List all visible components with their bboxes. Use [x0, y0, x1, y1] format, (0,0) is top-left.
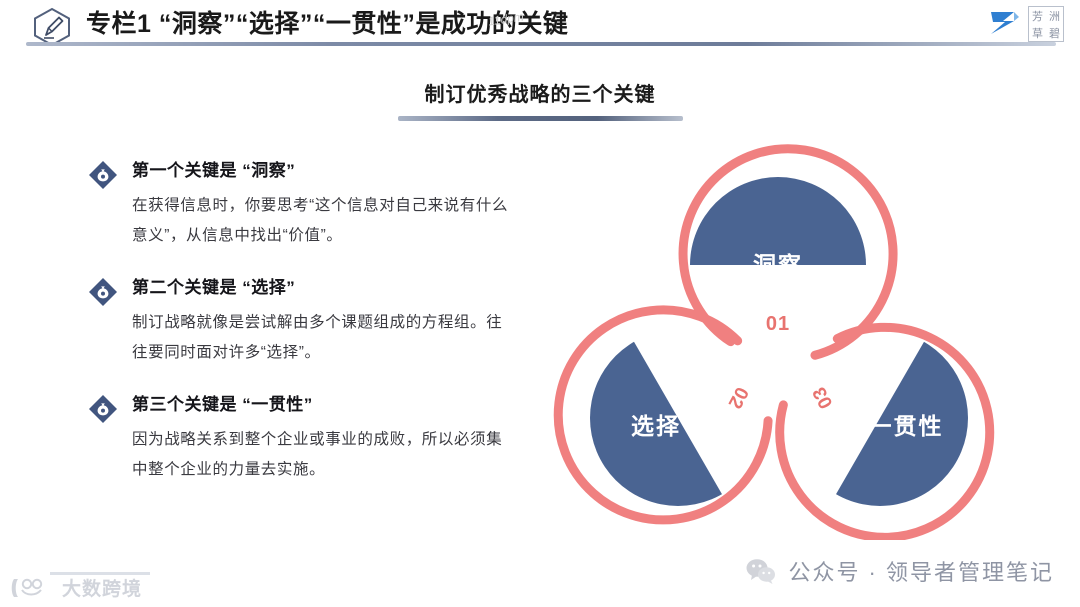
three-keys-ring-diagram: 洞察 01 选择 02 一贯性 03	[528, 140, 1048, 540]
money-bag-diamond-icon	[88, 277, 118, 307]
list-item-heading: 第二个关键是 “选择”	[132, 275, 518, 301]
wechat-account-label: 公众号 · 领导者管理笔记	[788, 555, 1054, 587]
wechat-footer: 公众号 · 领导者管理笔记	[746, 555, 1054, 587]
list-item-heading: 第一个关键是 “洞察”	[132, 158, 518, 184]
list-item: 第一个关键是 “洞察” 在获得信息时，你要思考“这个信息对自己来说有什么意义”，…	[88, 158, 518, 251]
seal-char-2: 洲	[1046, 7, 1063, 24]
page-title: 专栏1 “洞察”“选择”“一贯性”是成功的关键	[86, 4, 568, 44]
money-bag-diamond-icon	[88, 160, 118, 190]
segment-number-02: 02	[724, 383, 752, 412]
list-item-body: 在获得信息时，你要思考“这个信息对自己来说有什么意义”，从信息中找出“价值”。	[132, 191, 518, 251]
dsk-logo-mark-icon	[10, 576, 56, 600]
list-item: 第三个关键是 “一贯性” 因为战略关系到整个企业或事业的成败，所以必须集中整个企…	[88, 392, 518, 485]
header-divider	[26, 42, 1056, 46]
subtitle-underline	[398, 116, 683, 121]
seal-char-4: 碧	[1046, 24, 1063, 41]
money-bag-diamond-icon	[88, 394, 118, 424]
section-subtitle: 制订优秀战略的三个关键	[0, 78, 1080, 107]
slide-header: 专栏1 “洞察”“选择”“一贯性”是成功的关键 11dpm 芳 洲 草 碧	[0, 0, 1080, 52]
blue-three-logo-icon	[988, 8, 1022, 38]
wechat-icon	[746, 558, 776, 584]
key-points-list: 第一个关键是 “洞察” 在获得信息时，你要思考“这个信息对自己来说有什么意义”，…	[88, 158, 518, 509]
segment-number-03: 03	[809, 383, 837, 412]
segment-label-03: 一贯性	[869, 413, 944, 439]
hexagon-pencil-icon	[30, 7, 74, 47]
list-item: 第二个关键是 “选择” 制订战略就像是尝试解由多个课题组成的方程组。往往要同时面…	[88, 275, 518, 368]
dsk-watermark: 大数跨境	[10, 574, 142, 601]
list-item-body: 因为战略关系到整个企业或事业的成败，所以必须集中整个企业的力量去实施。	[132, 425, 518, 485]
seal-char-1: 芳	[1029, 7, 1046, 24]
segment-label-02: 选择	[631, 413, 681, 439]
list-item-heading: 第三个关键是 “一贯性”	[132, 392, 518, 418]
slide-canvas: 专栏1 “洞察”“选择”“一贯性”是成功的关键 11dpm 芳 洲 草 碧 制订…	[0, 0, 1080, 607]
dsk-watermark-label: 大数跨境	[62, 574, 142, 601]
list-item-body: 制订战略就像是尝试解由多个课题组成的方程组。往往要同时面对许多“选择”。	[132, 308, 518, 368]
segment-number-01: 01	[766, 313, 790, 335]
seal-char-3: 草	[1029, 24, 1046, 41]
segment-label-01: 洞察	[753, 252, 803, 278]
brand-seal-icon: 芳 洲 草 碧	[1028, 6, 1064, 42]
diagram-node-02: 选择 02	[528, 279, 796, 540]
